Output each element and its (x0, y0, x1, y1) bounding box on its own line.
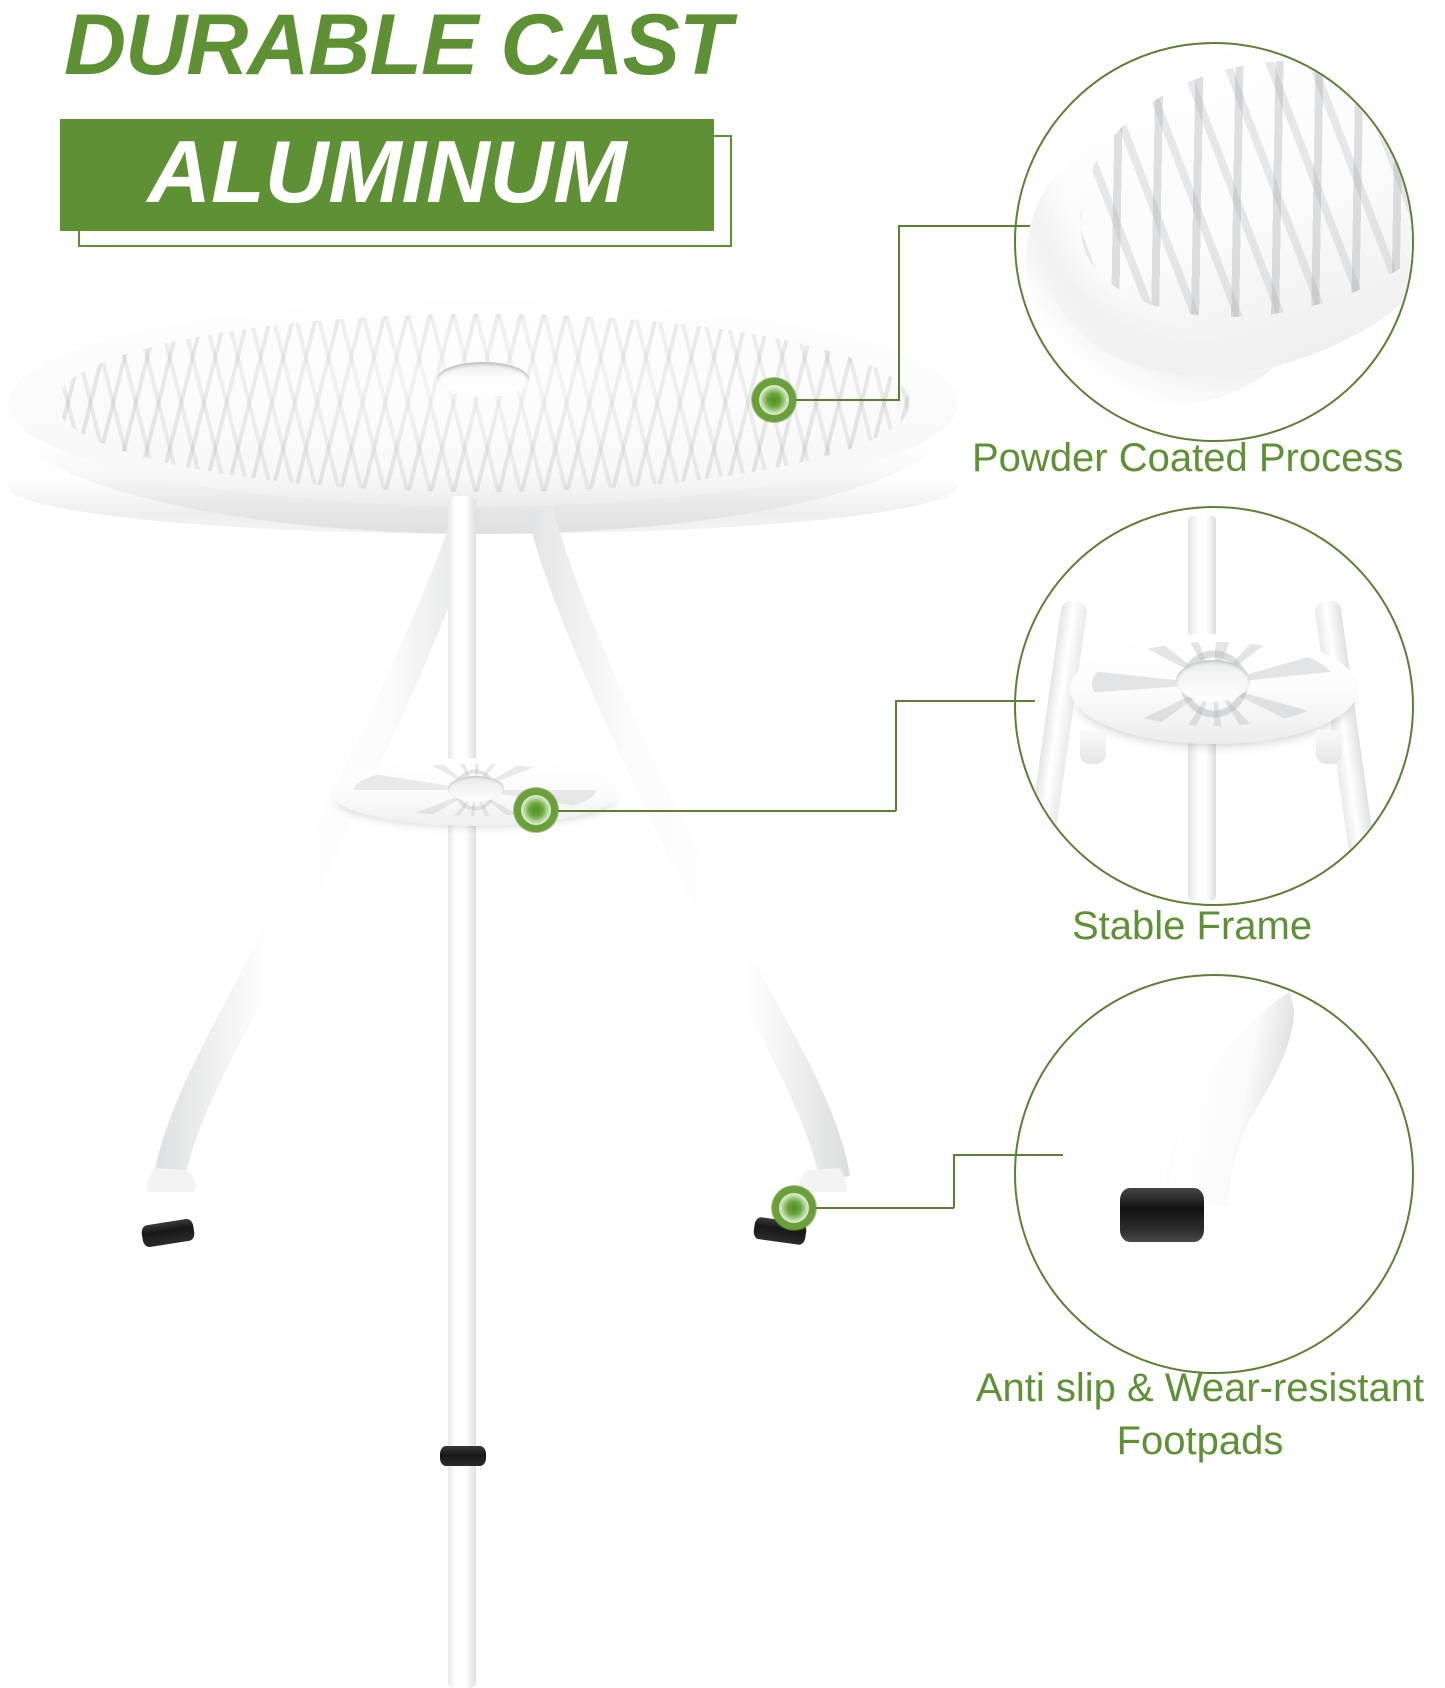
connector-1-seg-v (898, 225, 900, 400)
connector-2-seg-v (895, 700, 897, 811)
detail-shelf-bracket-right (1316, 730, 1342, 764)
connector-3-seg-h2 (953, 1154, 1063, 1156)
caption-stable-frame: Stable Frame (1072, 900, 1312, 953)
caption-powder-coated: Powder Coated Process (972, 432, 1403, 485)
shelf-assembly (330, 748, 620, 836)
headline-block: DURABLE CAST ALUMINUM (0, 0, 780, 270)
footpad-center (440, 1446, 486, 1466)
table-center-post (448, 496, 476, 1688)
marker-footpads[interactable] (772, 1186, 816, 1230)
caption-footpads-line-2: Footpads (960, 1415, 1440, 1468)
headline-line-2: ALUMINUM (60, 119, 714, 231)
umbrella-hole (437, 362, 529, 396)
connector-2-seg-h1 (558, 810, 896, 812)
connector-3-seg-h1 (816, 1207, 954, 1209)
detail-leg-left (1022, 600, 1088, 891)
shelf-hub (448, 776, 504, 802)
detail-leg-bottom (1108, 992, 1294, 1218)
connector-2-seg-h2 (895, 700, 1035, 702)
callout-circle-powder-coated (1014, 42, 1414, 442)
table-leg-right (524, 500, 904, 1200)
tabletop-surface (8, 300, 958, 506)
connector-1-seg-h1 (796, 399, 900, 401)
product-illustration (0, 288, 990, 1466)
connector-1-seg-h2 (898, 225, 1030, 227)
footpad-left (141, 1218, 196, 1248)
connector-3-seg-v (953, 1154, 955, 1208)
callout-circle-stable-frame (1014, 506, 1414, 906)
detail-footpad (1120, 1188, 1204, 1242)
marker-powder-coated[interactable] (752, 378, 796, 422)
caption-footpads-line-1: Anti slip & Wear-resistant (976, 1366, 1424, 1410)
callout-circle-footpads (1014, 974, 1414, 1374)
table-leg-left (120, 500, 500, 1200)
marker-stable-frame[interactable] (514, 788, 558, 832)
detail-shelf-hub (1176, 660, 1250, 702)
infographic-canvas: DURABLE CAST ALUMINUM (0, 0, 1445, 1466)
headline-line-1: DURABLE CAST (64, 2, 730, 88)
caption-footpads: Anti slip & Wear-resistant Footpads (960, 1362, 1440, 1468)
headline-band: ALUMINUM (60, 119, 714, 231)
detail-shelf-bracket-left (1080, 730, 1106, 764)
